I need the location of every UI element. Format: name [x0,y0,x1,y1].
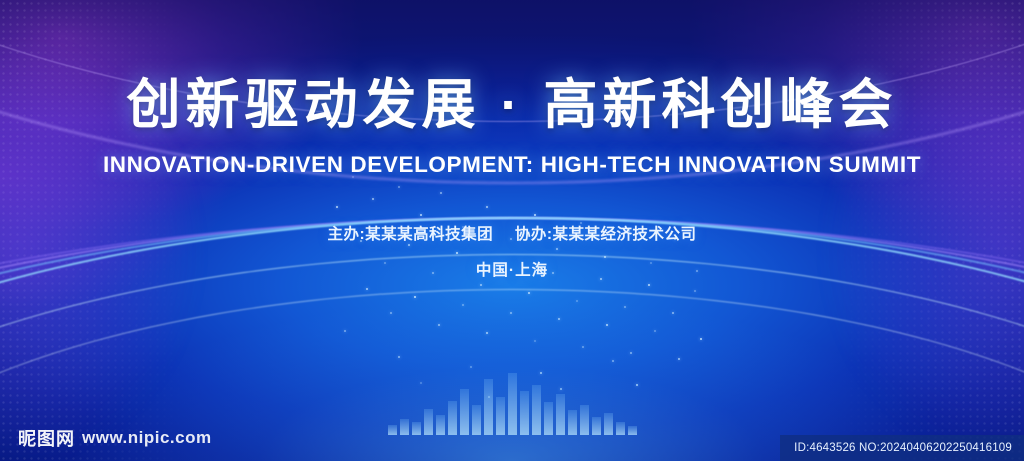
skyline-bar [424,409,433,435]
page-subtitle-english: INNOVATION-DRIVEN DEVELOPMENT: HIGH-TECH… [0,152,1024,178]
organizer-label: 主办:某某某高科技集团 [328,226,494,243]
asset-id-badge: ID:4643526 NO:20240406202250416109 [780,435,1024,461]
skyline-bar [508,373,517,435]
poster-canvas: 创新驱动发展 · 高新科创峰会 INNOVATION-DRIVEN DEVELO… [0,0,1024,461]
organizer-line: 主办:某某某高科技集团 协办:某某某经济技术公司 [0,222,1024,244]
co-organizer-label: 协办:某某某经济技术公司 [515,226,697,243]
city-skyline-graphic [362,363,662,435]
skyline-bar [616,422,625,435]
skyline-bar [388,425,397,435]
skyline-bar [544,402,553,435]
poster-text-block: 创新驱动发展 · 高新科创峰会 INNOVATION-DRIVEN DEVELO… [0,74,1024,280]
location-label: 中国·上海 [0,258,1024,280]
skyline-bar [604,413,613,435]
skyline-bar [460,389,469,435]
skyline-bar [592,417,601,435]
watermark: 昵图网 www.nipic.com [18,425,212,451]
skyline-bar [628,426,637,435]
site-logo-text: 昵图网 [18,425,75,451]
site-url-text: www.nipic.com [82,428,212,448]
skyline-bar [580,405,589,435]
skyline-bar [436,415,445,435]
skyline-bar [532,385,541,435]
skyline-bar [568,410,577,435]
skyline-bar [412,422,421,435]
skyline-bar [520,391,529,435]
skyline-bar [496,397,505,435]
skyline-bar [556,394,565,435]
page-title: 创新驱动发展 · 高新科创峰会 [0,74,1024,138]
skyline-bar [448,401,457,435]
skyline-bar [484,379,493,435]
skyline-bar [400,419,409,435]
skyline-bar [472,405,481,435]
